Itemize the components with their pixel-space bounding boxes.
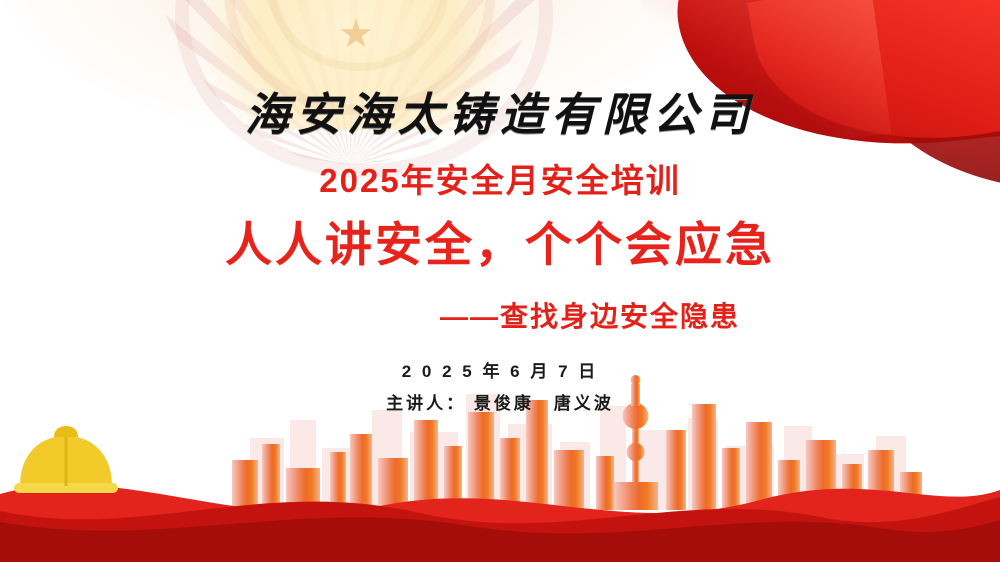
red-wave-icon-front: [0, 492, 1000, 562]
tagline: ——查找身边安全隐患: [0, 295, 1000, 335]
date-text: 2 0 2 5 年 6 月 7 日: [0, 357, 1000, 382]
speaker-text: 主讲人： 景俊康 唐义波: [0, 389, 1000, 414]
presentation-slide: 海安海太铸造有限公司 2025年安全月安全培训 人人讲安全，个个会应急 ——查找…: [0, 0, 1000, 562]
slogan: 人人讲安全，个个会应急: [0, 206, 1000, 275]
subtitle: 2025年安全月安全培训: [0, 154, 1000, 202]
safety-helmet-icon: [8, 424, 126, 504]
page-title: 海安海太铸造有限公司: [0, 78, 1000, 143]
